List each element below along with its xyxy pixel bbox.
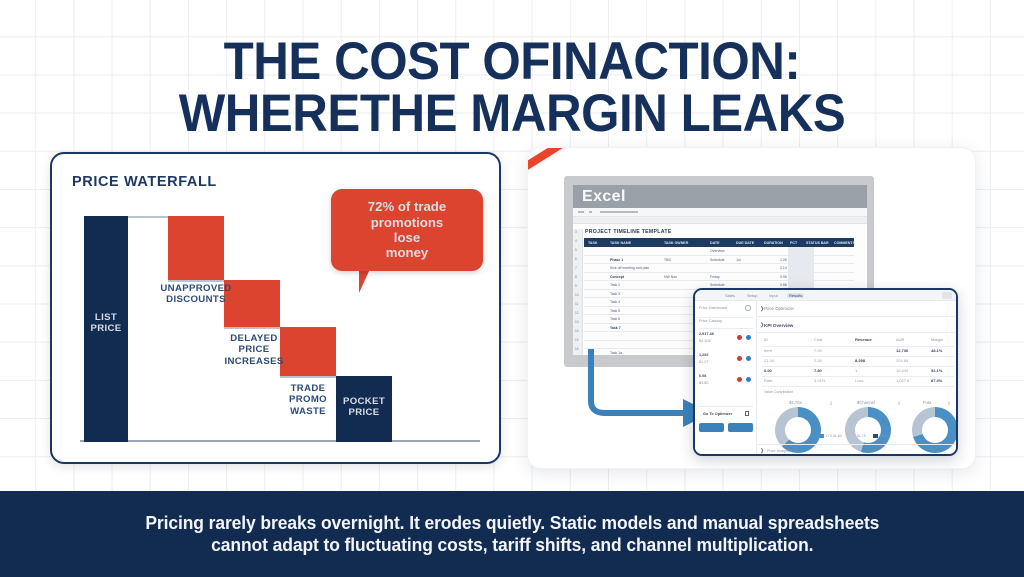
table-cell: 7.93 <box>814 348 822 353</box>
tab-results[interactable]: Results <box>787 293 804 298</box>
dashboard-sidebar: Price Dashboard Price Catalog 2,917.48 $… <box>695 301 757 456</box>
table-cell: 48.1% <box>931 348 942 353</box>
divider <box>762 376 954 377</box>
dashboard-main: ❯ Price Optimizer ❯ KPI Overview ID Cost… <box>757 301 956 456</box>
table-cell: 12,736 <box>896 348 908 353</box>
excel-table-header: TASK TASK NAME TASK OWNER DATE DUE DATE … <box>584 238 854 247</box>
waterfall-connector <box>224 327 280 329</box>
legend-swatch-1 <box>850 434 855 438</box>
tab-setup[interactable]: Setup <box>747 293 757 298</box>
dashboard-window-control[interactable] <box>942 292 952 299</box>
donuts-caption: Value Contribution <box>764 390 793 394</box>
sidebar-heading: Price Dashboard <box>699 306 727 310</box>
excel-col-duration: DURATION <box>764 241 783 245</box>
divider <box>762 366 954 367</box>
excel-row: ConceptNW NavFriday0.95 <box>584 273 854 282</box>
excel-col-duedate: DUE DATE <box>736 241 754 245</box>
waterfall-connector <box>168 280 224 282</box>
legend-swatch-2 <box>873 434 878 438</box>
waterfall-label-delayed-price-increases: DELAYED PRICE INCREASES <box>209 333 299 367</box>
bottom-banner: Pricing rarely breaks overnight. It erod… <box>0 491 1024 577</box>
donut-2-label: Futa <box>923 400 931 405</box>
tab-sales[interactable]: Sales <box>725 293 735 298</box>
info-dot-icon[interactable] <box>746 377 751 382</box>
table-cell: Loss <box>855 378 863 383</box>
excel-col-pct: PCT <box>790 241 797 245</box>
callout-bubble-tail <box>359 269 375 293</box>
divider <box>699 406 753 407</box>
legend-label-1: 61-75 <box>857 434 866 438</box>
download-icon[interactable]: ⇩ <box>947 401 951 407</box>
alert-dot-icon[interactable] <box>737 377 742 382</box>
table-cell: 87.4% <box>931 378 942 383</box>
waterfall-connector <box>280 376 336 378</box>
divider <box>757 332 957 333</box>
divider <box>699 328 753 329</box>
info-dot-icon[interactable] <box>746 356 751 361</box>
sidebar-metric-1-value: 1,292 <box>699 353 709 357</box>
table-cell: 2.26 <box>814 358 822 363</box>
sidebar-metric-1-sub: $1.07 <box>699 360 709 364</box>
excel-app-name: Excel <box>582 188 626 206</box>
table-cell: Item <box>764 348 772 353</box>
info-dot-icon[interactable] <box>746 335 751 340</box>
excel-col-comments: COMMENTS <box>834 241 855 245</box>
table-cell: 201.89 <box>896 358 908 363</box>
bottom-banner-text: Pricing rarely breaks overnight. It erod… <box>145 512 879 557</box>
waterfall-label-unapproved-discounts: UNAPPROVED DISCOUNTS <box>143 283 249 306</box>
dashboard-tabbar: Sales Setup Input Results <box>695 290 956 301</box>
table-cell: 10,449 <box>896 368 908 373</box>
table-col-id: ID <box>764 337 768 342</box>
divider <box>757 444 957 445</box>
table-col-cost: Cost <box>814 337 822 342</box>
donut-chart-0 <box>775 407 821 453</box>
divider <box>762 356 954 357</box>
table-cell: 6.00 <box>764 368 772 373</box>
sidebar-footer-label[interactable]: Go To Optimizer <box>703 412 732 416</box>
excel-row: Phase 1TBDScheduleJul1.05 <box>584 256 854 265</box>
dashboard-section-title: KPI Overview <box>764 323 793 328</box>
excel-toolbar <box>573 208 867 217</box>
table-cell: 3.01% <box>814 378 825 383</box>
sidebar-metric-2-value: 6.08 <box>699 374 706 378</box>
callout-bubble-text: 72% of trade promotions lose money <box>368 199 446 261</box>
table-cell: 1,027.8 <box>896 378 909 383</box>
legend-swatch-0 <box>819 434 824 438</box>
sidebar-metric-2-sub: $4.80 <box>699 381 709 385</box>
tab-input[interactable]: Input <box>769 293 778 298</box>
excel-col-date: DATE <box>710 241 720 245</box>
waterfall-label-list-price: LIST PRICE <box>84 312 128 335</box>
excel-col-task: TASK <box>588 241 598 245</box>
divider <box>757 316 957 317</box>
waterfall-chart-title: PRICE WATERFALL <box>72 174 217 190</box>
sidebar-metric-0-sub: $4,108 <box>699 339 711 343</box>
table-cell: 21.34 <box>764 358 774 363</box>
alert-dot-icon[interactable] <box>737 356 742 361</box>
table-cell: 8,298 <box>855 358 865 363</box>
chart-baseline <box>80 440 480 442</box>
legacy-vs-modern-card: Excel 3 4 5 6 7 8 9 10 11 12 13 14 15 16… <box>527 147 976 469</box>
sidebar-subheading: Price Catalog <box>699 319 722 323</box>
waterfall-bar-unapproved-discounts <box>168 216 224 280</box>
dashboard-breadcrumb: Price Optimizer <box>764 306 794 311</box>
callout-bubble: 72% of trade promotions lose money <box>331 189 483 271</box>
table-cell: 7.80 <box>814 368 822 373</box>
waterfall-label-pocket-price: POCKET PRICE <box>336 396 392 419</box>
divider <box>762 346 954 347</box>
donut-0-label: $4,70a <box>789 400 802 405</box>
excel-column-headers <box>573 217 867 224</box>
table-col-revenue: Revenue <box>855 337 872 342</box>
download-button[interactable] <box>699 423 724 432</box>
table-cell: Rate <box>764 378 772 383</box>
strike-through-line <box>527 147 802 173</box>
external-link-icon[interactable] <box>745 411 749 416</box>
waterfall-label-trade-promo-waste: TRADE PROMO WASTE <box>271 383 345 417</box>
excel-col-statusbar: STATUS BAR <box>806 241 829 245</box>
donut-chart-1 <box>845 407 891 453</box>
table-col-margin: Margin <box>931 337 943 342</box>
page-title: THE COST OFINACTION: WHERETHE MARGIN LEA… <box>36 36 988 140</box>
excel-col-owner: TASK OWNER <box>664 241 688 245</box>
divider <box>699 317 753 318</box>
download-icon[interactable]: ⇩ <box>829 401 833 407</box>
legend-label-0: LTV 41-60 <box>826 434 842 438</box>
excel-col-taskname: TASK NAME <box>610 241 631 245</box>
dashboard-body: Price Dashboard Price Catalog 2,917.48 $… <box>695 301 956 456</box>
sidebar-metric-0-value: 2,917.48 <box>699 332 714 336</box>
table-col-aur: AUR <box>896 337 904 342</box>
excel-sheet-title: PROJECT TIMELINE TEMPLATE <box>585 229 672 235</box>
excel-row: Overview <box>584 247 854 256</box>
excel-ribbon: Excel <box>573 185 867 208</box>
table-cell: 1 <box>855 368 857 373</box>
download-icon[interactable]: ⇩ <box>897 401 901 407</box>
dashboard-footer: Price Analytics <box>767 449 792 453</box>
donut-1-label: $Channel <box>857 400 875 405</box>
modern-dashboard-tablet: Sales Setup Input Results Price Dashboar… <box>693 288 958 456</box>
divider <box>762 386 954 387</box>
excel-row: Kick off meeting and plan2.14 <box>584 264 854 273</box>
gear-icon[interactable] <box>745 305 751 311</box>
table-cell: 52.1% <box>931 368 942 373</box>
donut-chart-2 <box>912 407 958 453</box>
excel-row-gutter: 3 4 5 6 7 8 9 10 11 12 13 14 15 16 <box>573 229 583 355</box>
alert-dot-icon[interactable] <box>737 335 742 340</box>
reset-button[interactable] <box>728 423 753 432</box>
chevron-right-icon[interactable]: ❯ <box>760 448 764 454</box>
legend-label-2: 76-90 <box>880 434 889 438</box>
